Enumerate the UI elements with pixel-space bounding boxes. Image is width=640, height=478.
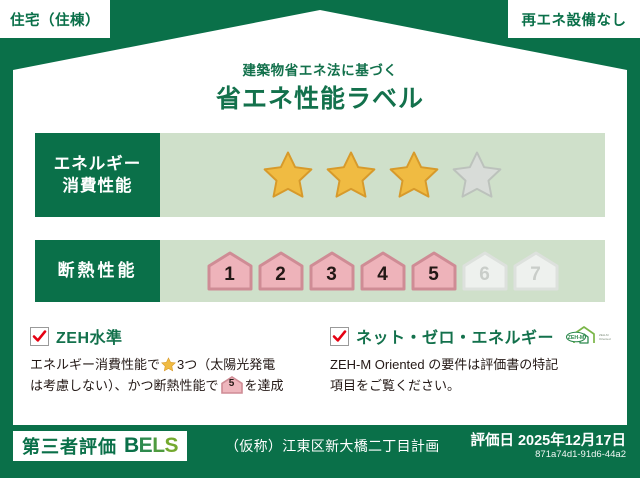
energy-stars-area: [160, 133, 605, 217]
criteria-zeh-text-3: は考慮しない）、かつ断熱性能で: [30, 378, 219, 393]
insulation-performance-label-box: 断熱性能: [35, 240, 160, 302]
energy-performance-label-box: エネルギー 消費性能: [35, 133, 160, 217]
star-filled-icon: [324, 149, 378, 201]
criteria-nze-text-1: ZEH-M Oriented の要件は評価書の特記: [330, 357, 558, 372]
insulation-level-value: 2: [275, 265, 286, 291]
inline-star-icon: [161, 357, 176, 372]
svg-text:ZEH-M: ZEH-M: [568, 335, 585, 341]
tag-dwelling-type: 住宅（住棟）: [0, 0, 110, 38]
criteria-zeh-title: ZEH水準: [56, 324, 123, 348]
insulation-level-badge: 4: [359, 251, 407, 291]
bels-logo: BELS: [124, 434, 178, 458]
criteria-nze-title: ネット・ゼロ・エネルギー: [356, 324, 554, 348]
star-rating: [261, 149, 504, 201]
insulation-level-value: 1: [224, 265, 235, 291]
criteria-nze-header: ネット・ゼロ・エネルギー ZEH-M ZEH-M Oriented: [330, 325, 620, 347]
star-filled-icon: [387, 149, 441, 201]
zeh-m-logo-icon: ZEH-M ZEH-M Oriented: [565, 324, 611, 348]
checkbox-checked-icon: [30, 327, 49, 346]
svg-text:Oriented: Oriented: [599, 337, 611, 341]
title-subtitle: 建築物省エネ法に基づく: [0, 59, 640, 79]
star-filled-icon: [261, 149, 315, 201]
inline-insulation-badge: 5: [221, 376, 243, 394]
bels-japanese-label: 第三者評価: [22, 433, 117, 459]
building-name: （仮称）江東区新大橋二丁目計画: [225, 436, 440, 456]
evaluation-date: 評価日 2025年12月17日: [470, 429, 626, 450]
insulation-level-value: 7: [530, 265, 541, 291]
insulation-badges-area: 1234567: [160, 240, 605, 302]
insulation-performance-panel: 断熱性能 1234567: [35, 240, 605, 302]
insulation-level-badge: 3: [308, 251, 356, 291]
page-title: 省エネ性能ラベル: [0, 79, 640, 115]
insulation-level-value: 3: [326, 265, 337, 291]
insulation-level-badge: 6: [461, 251, 509, 291]
label-footer: 第三者評価 BELS （仮称）江東区新大橋二丁目計画 評価日 2025年12月1…: [0, 425, 640, 478]
insulation-level-badge: 1: [206, 251, 254, 291]
insulation-level-badges: 1234567: [206, 251, 560, 291]
criteria-nze-body: ZEH-M Oriented の要件は評価書の特記 項目をご覧ください。: [330, 354, 620, 397]
insulation-level-badge: 7: [512, 251, 560, 291]
bels-certification-chip: 第三者評価 BELS: [13, 431, 187, 461]
criteria-zeh-text-4: を達成: [245, 378, 284, 393]
criteria-zeh-text-2: 3つ（太陽光発電: [177, 357, 275, 372]
svg-text:ZEH-M: ZEH-M: [599, 333, 609, 337]
insulation-level-badge: 5: [410, 251, 458, 291]
star-empty-icon: [450, 149, 504, 201]
criteria-net-zero-energy: ネット・ゼロ・エネルギー ZEH-M ZEH-M Oriented ZEH-M …: [330, 325, 620, 397]
criteria-zeh-body: エネルギー消費性能で 3つ（太陽光発電 は考慮しない）、かつ断熱性能で 5 を達…: [30, 354, 330, 397]
evaluation-id: 871a74d1-91d6-44a2: [535, 449, 626, 460]
criteria-zeh-level: ZEH水準 エネルギー消費性能で 3つ（太陽光発電 は考慮しない）、かつ断熱性能…: [30, 325, 330, 397]
inline-badge-value: 5: [221, 376, 243, 394]
criteria-zeh-header: ZEH水準: [30, 325, 330, 347]
insulation-level-value: 6: [479, 265, 490, 291]
insulation-level-badge: 2: [257, 251, 305, 291]
energy-label-line1: エネルギー: [54, 153, 142, 175]
insulation-level-value: 4: [377, 265, 388, 291]
energy-performance-label: 住宅（住棟） 再エネ設備なし 建築物省エネ法に基づく 省エネ性能ラベル エネルギ…: [0, 0, 640, 478]
criteria-nze-text-2: 項目をご覧ください。: [330, 378, 460, 393]
checkbox-checked-icon: [330, 327, 349, 346]
criteria-zeh-text-1: エネルギー消費性能で: [30, 357, 160, 372]
insulation-level-value: 5: [428, 265, 439, 291]
tag-renewable-equipment: 再エネ設備なし: [508, 0, 640, 38]
energy-performance-panel: エネルギー 消費性能: [35, 133, 605, 217]
energy-label-line2: 消費性能: [63, 175, 133, 197]
